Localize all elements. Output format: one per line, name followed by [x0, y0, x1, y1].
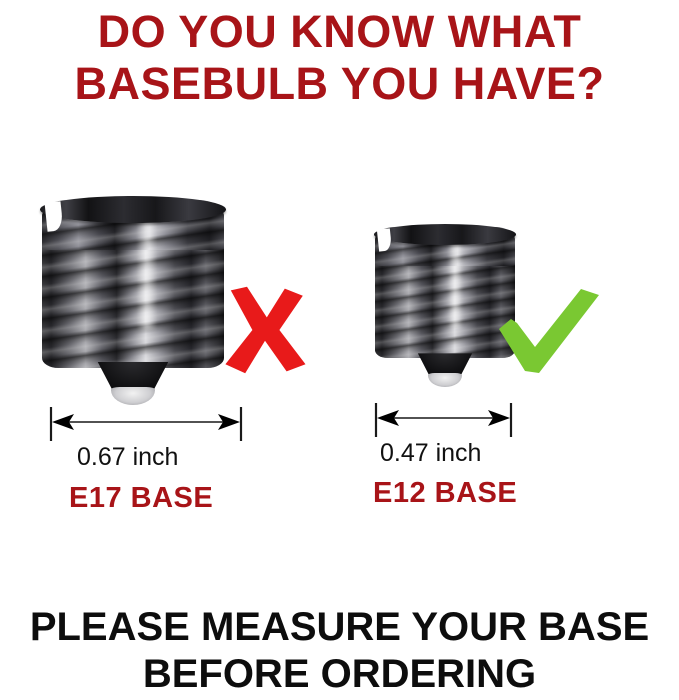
headline-line-2: BASEBULB YOU HAVE?: [0, 58, 679, 110]
bulb-comparison-e17: 0.67 inch E17 BASE: [20, 195, 340, 525]
measurement-label-e12: 0.47 inch: [380, 439, 481, 468]
bulb-threads: [375, 227, 515, 358]
infographic-page: DO YOU KNOW WHAT BASEBULB YOU HAVE?: [0, 0, 679, 700]
caption-line-1: PLEASE MEASURE YOUR BASE: [0, 604, 679, 651]
bulb-top-rim: [374, 224, 517, 245]
base-type-label-e12: E12 BASE: [373, 477, 517, 510]
bulb-contact-tip: [428, 373, 462, 387]
footer-instruction: PLEASE MEASURE YOUR BASE BEFORE ORDERING: [0, 604, 679, 698]
base-type-label-e17: E17 BASE: [69, 482, 213, 515]
bulb-comparison-e12: 0.47 inch E12 BASE: [355, 225, 655, 525]
bulb-body: [42, 200, 224, 368]
bulb-body: [375, 227, 515, 358]
bulb-screw-base-e17-image: [42, 200, 224, 405]
measurement-label-e17: 0.67 inch: [77, 443, 178, 472]
headline-line-1: DO YOU KNOW WHAT: [0, 6, 679, 58]
dimension-line-e17: [48, 407, 248, 441]
bulb-threads: [42, 200, 224, 368]
caption-line-2: BEFORE ORDERING: [0, 651, 679, 698]
bulb-top-rim: [40, 196, 226, 223]
dimension-line-e12: [373, 403, 518, 437]
bulb-contact-tip: [111, 387, 155, 405]
red-x-icon: [220, 285, 310, 375]
page-title: DO YOU KNOW WHAT BASEBULB YOU HAVE?: [0, 6, 679, 110]
bulb-screw-base-e12-image: [375, 227, 515, 387]
green-check-icon: [495, 285, 605, 375]
